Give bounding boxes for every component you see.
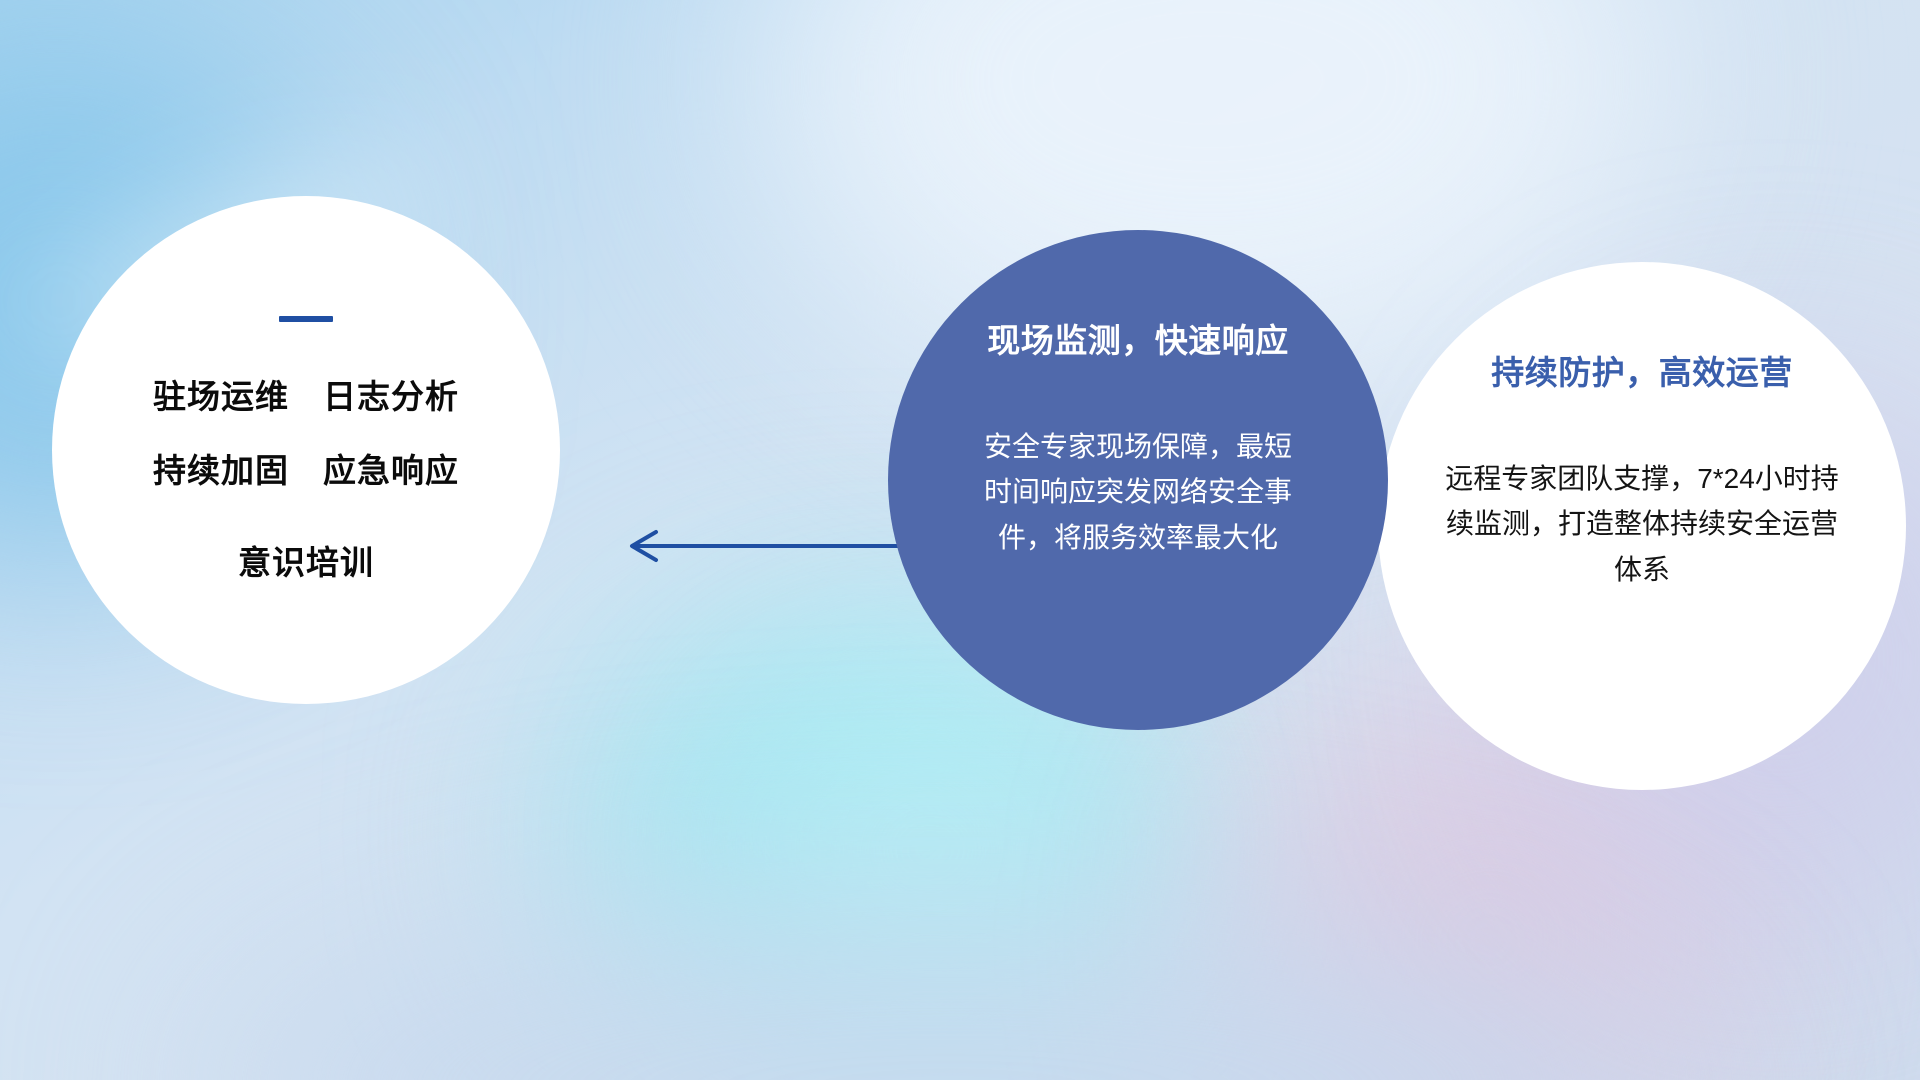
background-blob-bottom bbox=[200, 880, 1700, 1080]
onsite-monitoring-body: 安全专家现场保障，最短时间响应突发网络安全事件，将服务效率最大化 bbox=[973, 424, 1303, 560]
onsite-monitoring-circle[interactable]: 现场监测，快速响应 安全专家现场保障，最短时间响应突发网络安全事件，将服务效率最… bbox=[888, 230, 1388, 730]
keyword-row: 持续加固 应急响应 bbox=[153, 444, 459, 492]
flow-arrow-left bbox=[612, 520, 912, 572]
keyword-item: 驻场运维 bbox=[153, 370, 289, 418]
continuous-protection-circle[interactable]: 持续防护，高效运营 远程专家团队支撑，7*24小时持续监测，打造整体持续安全运营… bbox=[1378, 262, 1906, 790]
keyword-row: 意识培训 bbox=[238, 536, 374, 584]
keyword-item: 持续加固 bbox=[153, 444, 289, 492]
onsite-monitoring-title: 现场监测，快速响应 bbox=[987, 314, 1289, 362]
accent-dash-icon bbox=[279, 316, 333, 322]
slide-canvas: 驻场运维 日志分析 持续加固 应急响应 意识培训 现场监测，快速响应 安全专家现… bbox=[0, 0, 1920, 1080]
capabilities-circle[interactable]: 驻场运维 日志分析 持续加固 应急响应 意识培训 bbox=[52, 196, 560, 704]
continuous-protection-body: 远程专家团队支撑，7*24小时持续监测，打造整体持续安全运营体系 bbox=[1442, 456, 1842, 592]
continuous-protection-title: 持续防护，高效运营 bbox=[1491, 346, 1793, 394]
keyword-item: 意识培训 bbox=[238, 536, 374, 584]
background-blob-cyan-2 bbox=[740, 700, 1120, 1000]
keyword-item: 日志分析 bbox=[323, 370, 459, 418]
keyword-row: 驻场运维 日志分析 bbox=[153, 370, 459, 418]
keyword-item: 应急响应 bbox=[323, 444, 459, 492]
